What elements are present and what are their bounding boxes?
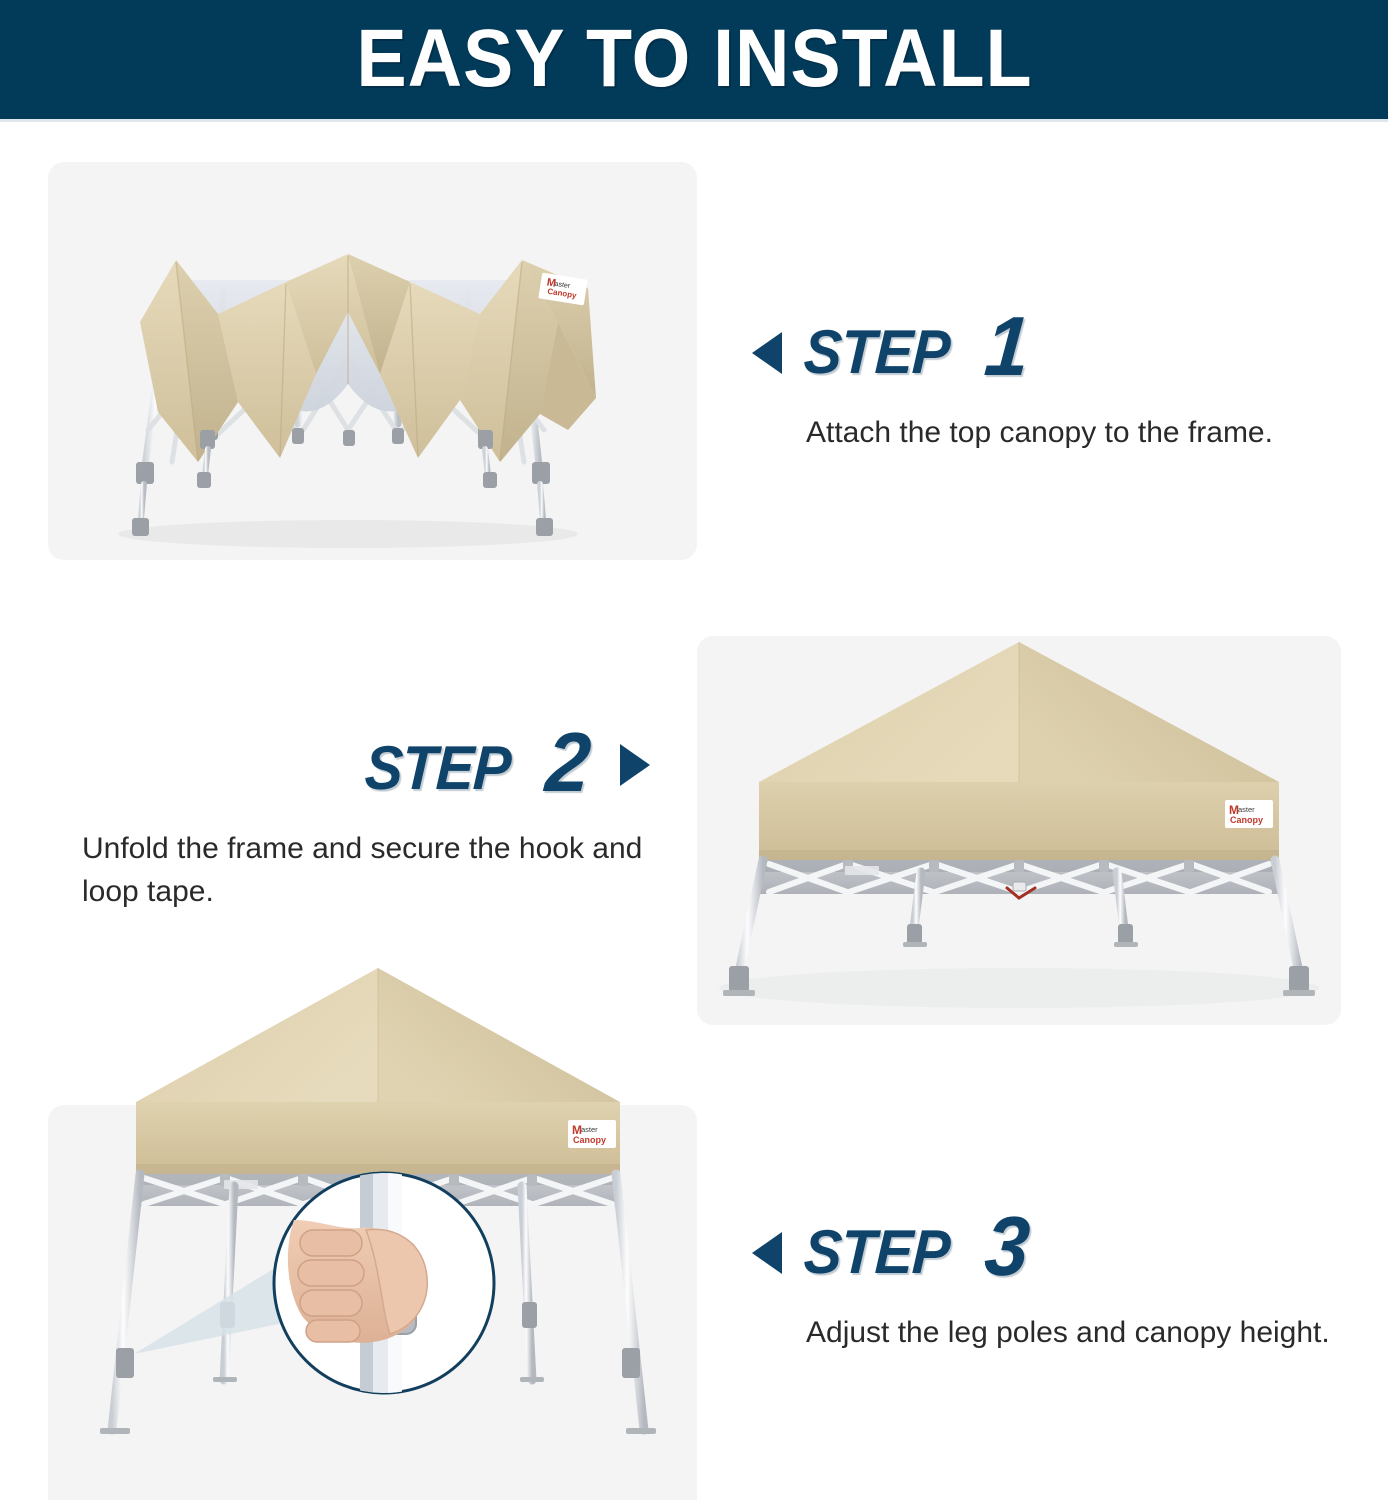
callout-connector <box>134 1260 288 1354</box>
step-1-image-clip: M aster Canopy <box>48 162 697 560</box>
step-2-number: 2 <box>543 720 592 804</box>
step-3-number: 3 <box>982 1204 1031 1288</box>
step-3-text-block: STEP 3 Adjust the leg poles and canopy h… <box>752 1218 1342 1355</box>
step-3-heading: STEP 3 <box>752 1218 1342 1288</box>
step-2-image-card: M aster Canopy <box>697 636 1341 1025</box>
svg-text:aster: aster <box>1238 805 1255 814</box>
triangle-right-icon <box>620 744 650 786</box>
step-2-word: STEP <box>364 738 512 800</box>
triangle-left-icon <box>752 1232 782 1274</box>
page-title: EASY TO INSTALL <box>356 18 1032 100</box>
brand-logo-patch: M aster Canopy <box>568 1120 616 1148</box>
canopy-fully-erected-illustration: M aster Canopy <box>697 636 1341 1025</box>
step-1-text-block: STEP 1 Attach the top canopy to the fram… <box>752 318 1342 455</box>
step-1-description: Attach the top canopy to the frame. <box>752 412 1342 455</box>
step-1-heading: STEP 1 <box>752 318 1342 388</box>
step-1-number: 1 <box>982 304 1031 388</box>
step-2-text-block: STEP 2 Unfold the frame and secure the h… <box>78 734 668 913</box>
step-2-heading: STEP 2 <box>78 734 668 804</box>
header-banner: EASY TO INSTALL <box>0 0 1388 119</box>
step-1-image-card: M aster Canopy <box>48 162 697 560</box>
triangle-left-icon <box>752 332 782 374</box>
step-3-word: STEP <box>803 1222 951 1284</box>
svg-text:Canopy: Canopy <box>1230 815 1263 825</box>
callout-magnifier <box>274 1173 494 1393</box>
step-3-description: Adjust the leg poles and canopy height. <box>752 1312 1342 1355</box>
canopy-partially-unfolded-illustration: M aster Canopy <box>48 162 697 560</box>
svg-text:Canopy: Canopy <box>573 1135 606 1145</box>
brand-logo-patch: M aster Canopy <box>1225 800 1273 828</box>
step-2-image-clip: M aster Canopy <box>697 636 1341 1025</box>
step-1-word: STEP <box>803 322 951 384</box>
banner-underline <box>0 119 1388 122</box>
svg-text:aster: aster <box>581 1125 598 1134</box>
step-2-description: Unfold the frame and secure the hook and… <box>78 828 668 913</box>
canopy-with-leg-adjust-callout-illustration: M aster Canopy <box>48 930 697 1500</box>
